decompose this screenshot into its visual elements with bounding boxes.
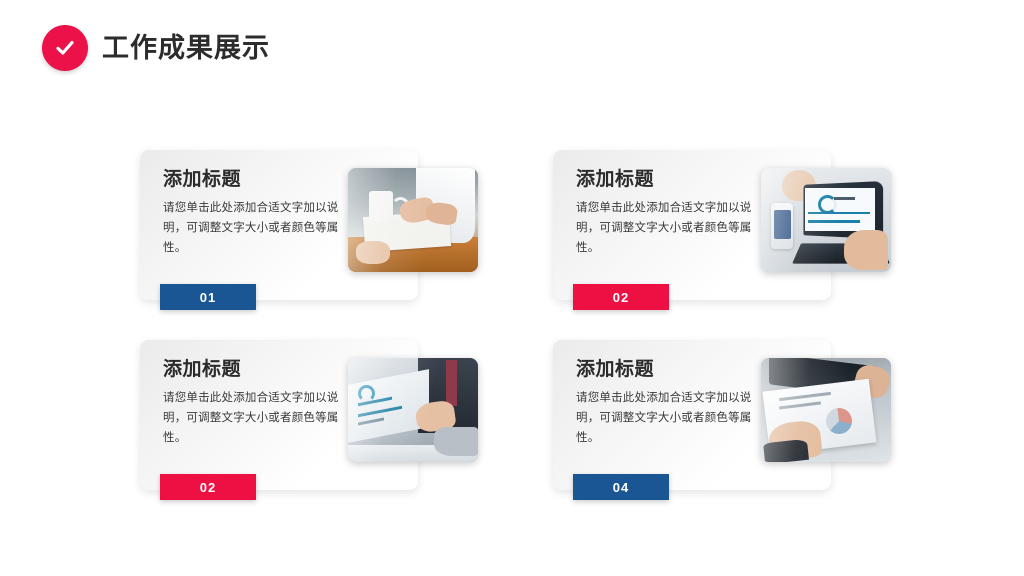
card-top-left[interactable]: 添加标题 请您单击此处添加合适文字加以说明，可调整文字大小或者颜色等属性。 01: [140, 150, 490, 325]
card-text-block: 添加标题 请您单击此处添加合适文字加以说明，可调整文字大小或者颜色等属性。: [163, 360, 353, 448]
card-top-right[interactable]: 添加标题 请您单击此处添加合适文字加以说明，可调整文字大小或者颜色等属性。: [553, 150, 903, 325]
card-number-badge[interactable]: 02: [573, 284, 669, 310]
card-title: 添加标题: [163, 170, 353, 191]
card-body: 请您单击此处添加合适文字加以说明，可调整文字大小或者颜色等属性。: [576, 388, 766, 448]
card-number-badge[interactable]: 04: [573, 474, 669, 500]
photo-artwork: [348, 168, 478, 272]
report-documents-photo: [761, 358, 891, 462]
card-title: 添加标题: [576, 360, 766, 381]
meeting-desk-photo: [348, 168, 478, 272]
laptop-charts-person-photo: [348, 358, 478, 462]
card-text-block: 添加标题 请您单击此处添加合适文字加以说明，可调整文字大小或者颜色等属性。: [163, 170, 353, 258]
card-bottom-left[interactable]: 添加标题 请您单击此处添加合适文字加以说明，可调整文字大小或者颜色等属性。 02: [140, 340, 490, 515]
photo-artwork: [761, 168, 891, 272]
laptop-phone-dashboard-photo: [761, 168, 891, 272]
photo-artwork: [348, 358, 478, 462]
card-number-badge[interactable]: 01: [160, 284, 256, 310]
card-title: 添加标题: [576, 170, 766, 191]
card-text-block: 添加标题 请您单击此处添加合适文字加以说明，可调整文字大小或者颜色等属性。: [576, 360, 766, 448]
card-body: 请您单击此处添加合适文字加以说明，可调整文字大小或者颜色等属性。: [163, 388, 353, 448]
card-title: 添加标题: [163, 360, 353, 381]
card-body: 请您单击此处添加合适文字加以说明，可调整文字大小或者颜色等属性。: [576, 198, 766, 258]
card-body: 请您单击此处添加合适文字加以说明，可调整文字大小或者颜色等属性。: [163, 198, 353, 258]
photo-artwork: [761, 358, 891, 462]
card-number-badge[interactable]: 02: [160, 474, 256, 500]
cards-area: 添加标题 请您单击此处添加合适文字加以说明，可调整文字大小或者颜色等属性。 01: [0, 0, 1024, 576]
card-bottom-right[interactable]: 添加标题 请您单击此处添加合适文字加以说明，可调整文字大小或者颜色等属性。 04: [553, 340, 903, 515]
card-text-block: 添加标题 请您单击此处添加合适文字加以说明，可调整文字大小或者颜色等属性。: [576, 170, 766, 258]
